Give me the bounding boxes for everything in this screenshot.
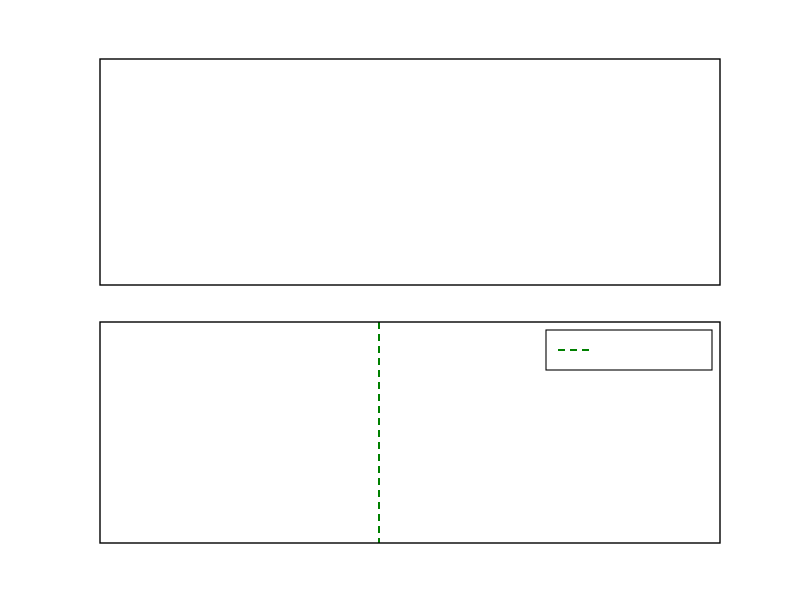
figure-background: [0, 0, 800, 600]
legend[interactable]: [546, 330, 712, 370]
figure-canvas: [0, 0, 800, 600]
